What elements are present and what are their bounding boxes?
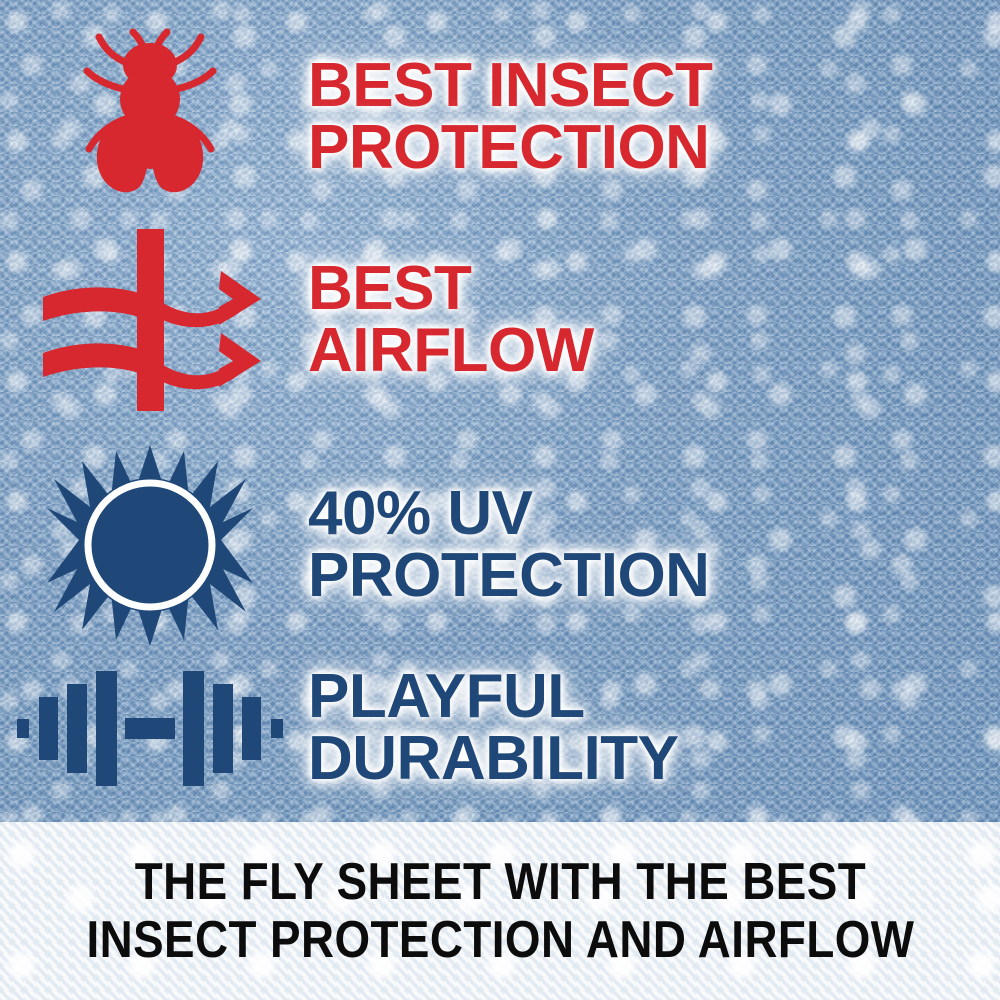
feature-headline-insect-protection: BEST INSECT PROTECTION: [308, 55, 1000, 179]
feature-icon-cell: [0, 27, 300, 207]
feature-headline-durability: PLAYFUL DURABILITY: [308, 666, 1000, 790]
feature-icon-cell: [0, 443, 300, 648]
feature-text-cell: PLAYFUL DURABILITY: [300, 666, 1000, 790]
caption-headline: THE FLY SHEET WITH THE BEST INSECT PROTE…: [86, 853, 914, 969]
feature-headline-uv-protection: 40% UV PROTECTION: [308, 483, 1000, 607]
feature-row-uv-protection: 40% UV PROTECTION: [0, 440, 1000, 650]
product-feature-infographic: BEST INSECT PROTECTION: [0, 0, 1000, 1000]
airflow-arrows-icon: [35, 225, 265, 415]
fly-icon: [65, 27, 235, 207]
feature-text-cell: 40% UV PROTECTION: [300, 483, 1000, 607]
feature-headline-airflow: BEST AIRFLOW: [308, 258, 1000, 382]
feature-text-cell: BEST INSECT PROTECTION: [300, 55, 1000, 179]
caption-band: THE FLY SHEET WITH THE BEST INSECT PROTE…: [0, 822, 1000, 1000]
dumbbell-icon: [15, 661, 285, 796]
sun-icon: [45, 443, 255, 648]
feature-row-durability: PLAYFUL DURABILITY: [0, 648, 1000, 808]
feature-row-airflow: BEST AIRFLOW: [0, 222, 1000, 417]
feature-icon-cell: [0, 661, 300, 796]
feature-icon-cell: [0, 225, 300, 415]
feature-row-insect-protection: BEST INSECT PROTECTION: [0, 22, 1000, 212]
feature-text-cell: BEST AIRFLOW: [300, 258, 1000, 382]
